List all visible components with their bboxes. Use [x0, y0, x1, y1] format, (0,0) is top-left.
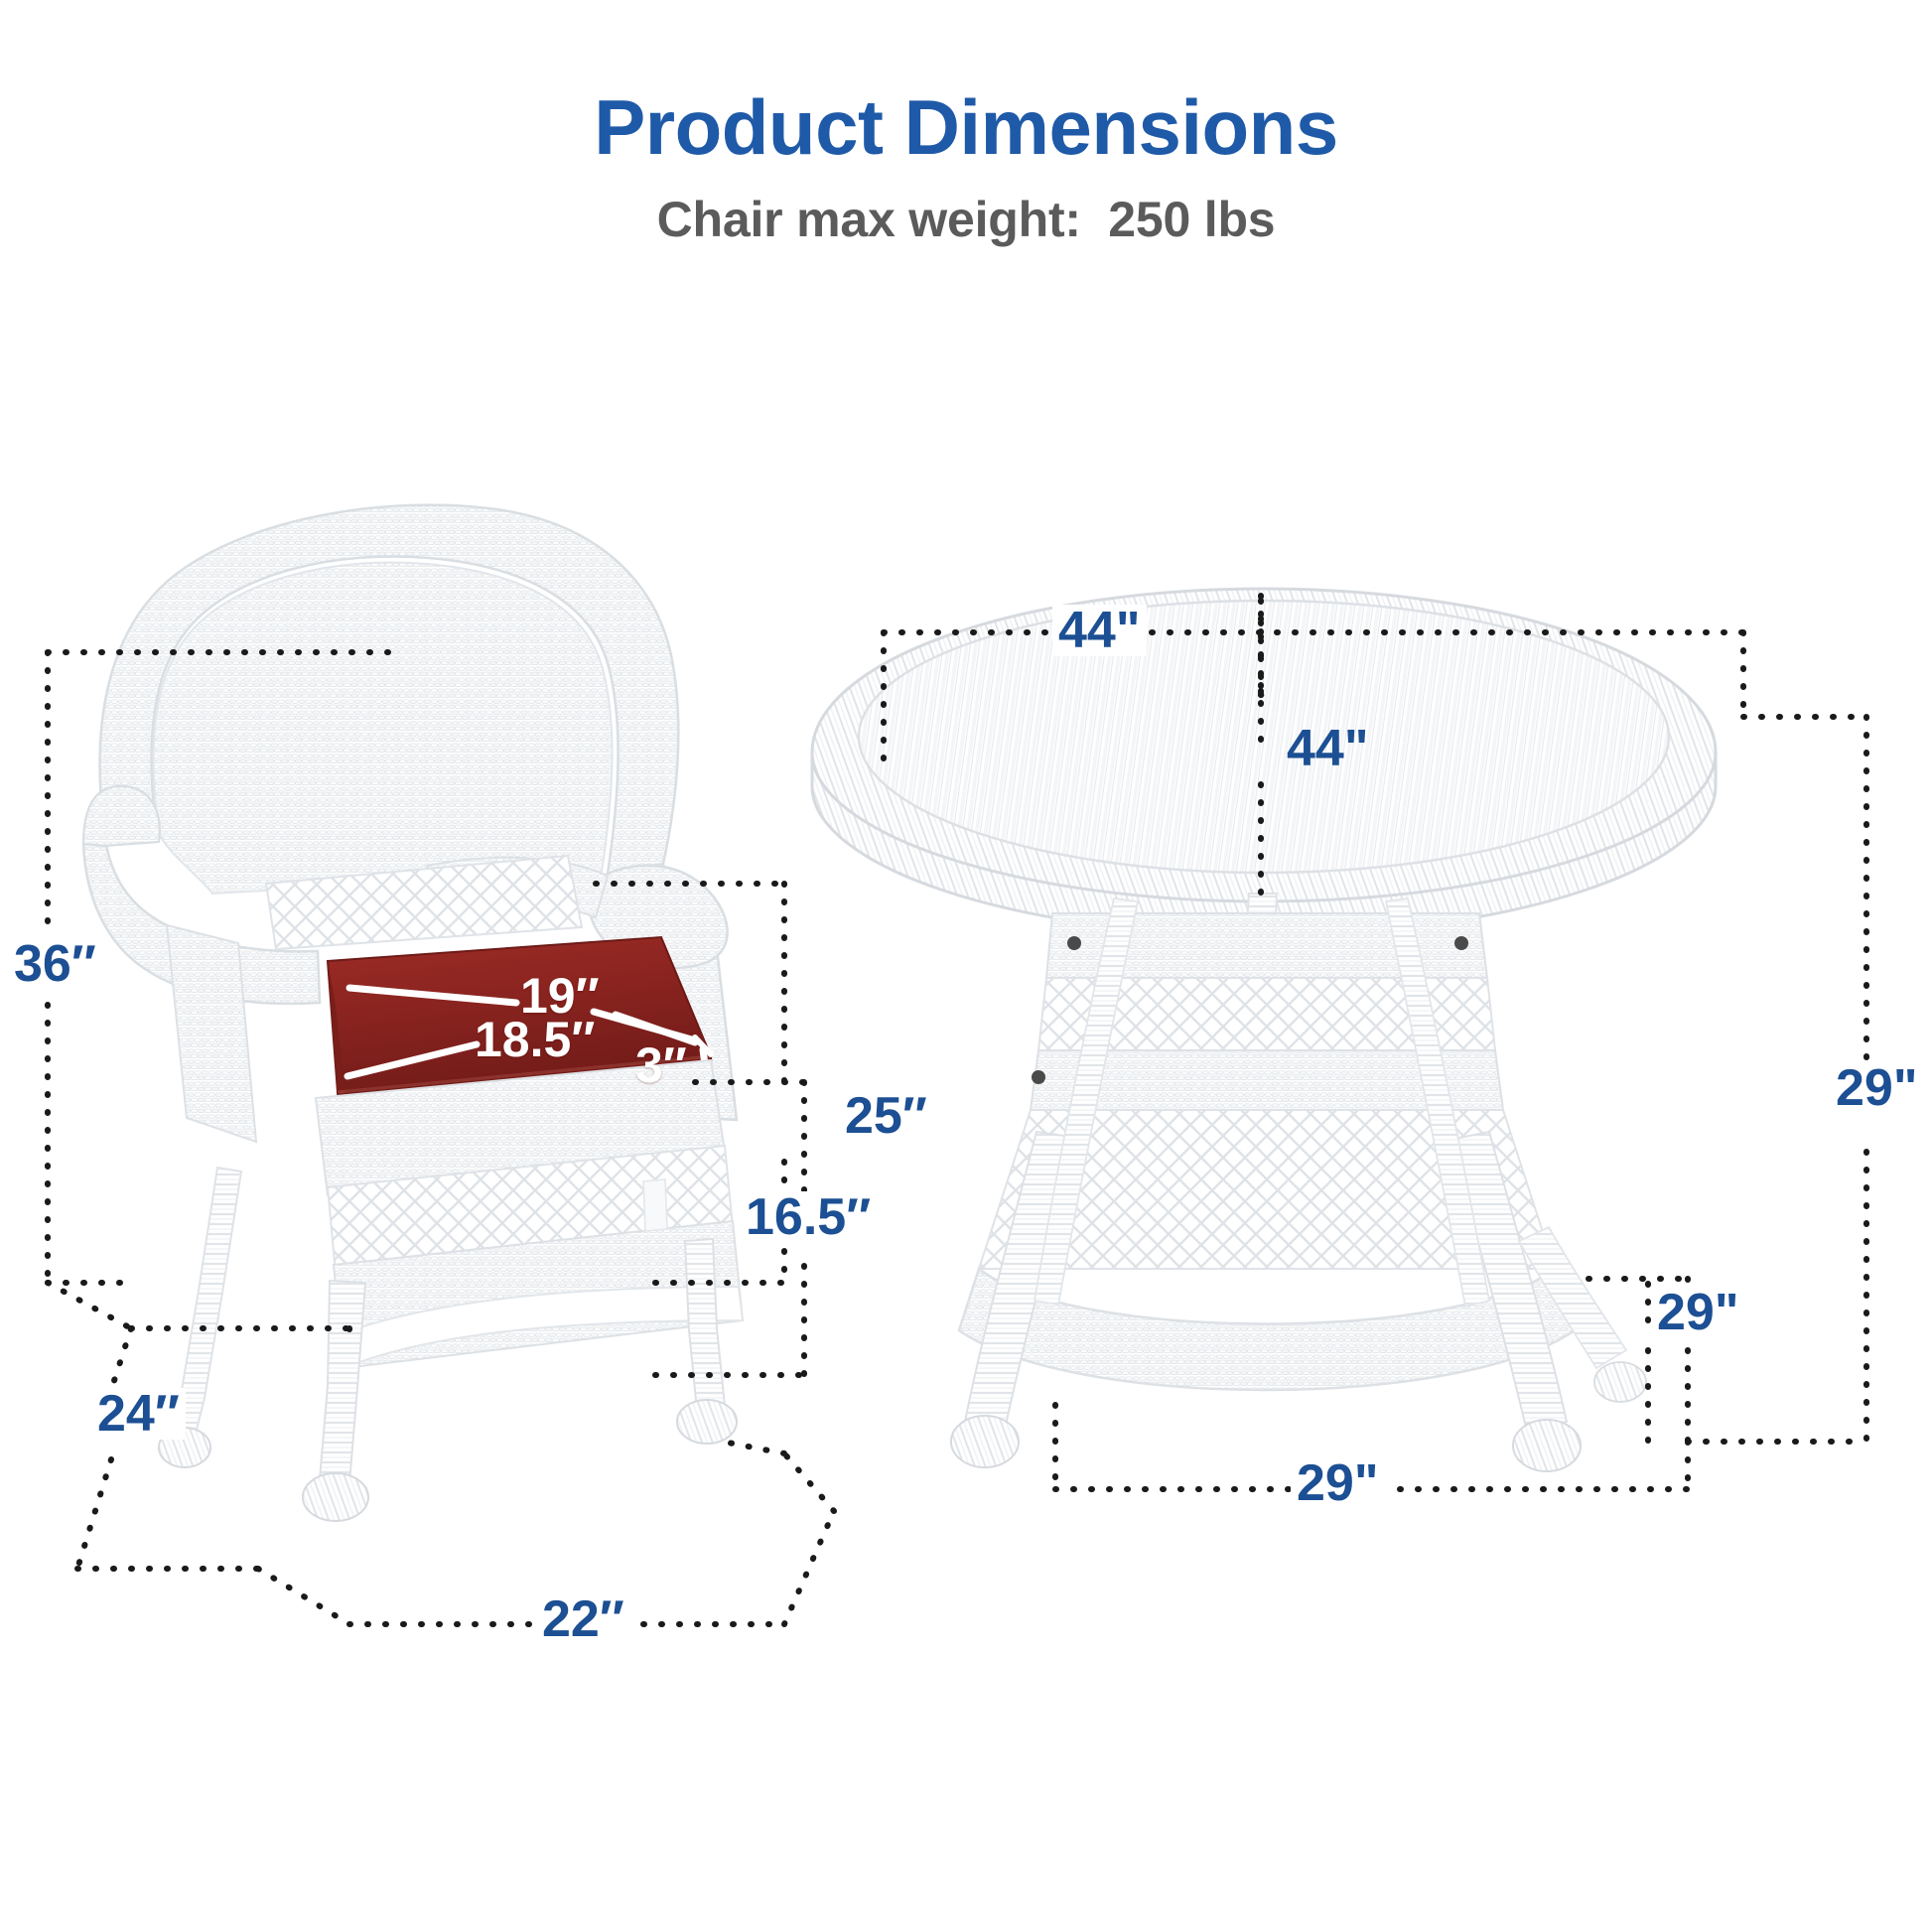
- chair-illustration: [83, 505, 743, 1521]
- table-height-label: 29": [1830, 1062, 1924, 1114]
- table-diameter-vertical-label: 44": [1281, 723, 1375, 774]
- chair-height-label: 36″: [8, 938, 102, 990]
- cushion-thickness-label: 3″: [635, 1040, 687, 1090]
- chair-depth-label: 24″: [91, 1388, 186, 1440]
- table-base-height-label: 29": [1651, 1287, 1745, 1338]
- chair-seat-back-height-label: 25″: [839, 1090, 933, 1142]
- chair-seat-height-label: 16.5″: [740, 1191, 877, 1243]
- table-base-width-label: 29": [1291, 1457, 1385, 1509]
- chair-footprint-outline: [131, 1328, 349, 1342]
- chair-width-label: 22″: [536, 1593, 630, 1645]
- product-dimensions-page: Product Dimensions Chair max weight: 250…: [0, 0, 1932, 1932]
- table-diameter-horizontal-label: 44": [1052, 605, 1147, 656]
- cushion-depth-label: 18.5″: [475, 1015, 595, 1064]
- dimension-diagram: [0, 0, 1932, 1932]
